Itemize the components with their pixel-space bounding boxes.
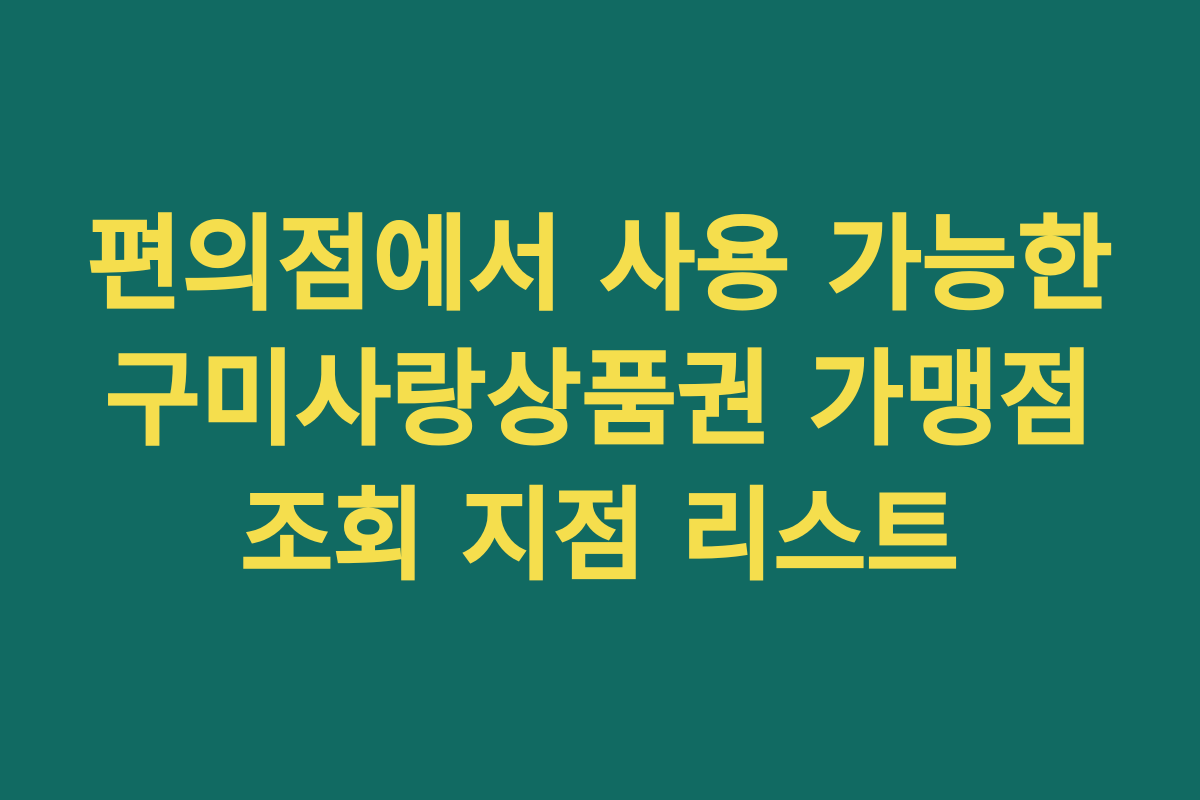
headline-line-2: 구미사랑상품권 가맹점: [30, 333, 1170, 468]
headline-line-3: 조회 지점 리스트: [30, 468, 1170, 603]
headline-line-1: 편의점에서 사용 가능한: [30, 198, 1170, 333]
headline-block: 편의점에서 사용 가능한 구미사랑상품권 가맹점 조회 지점 리스트: [30, 198, 1170, 603]
banner-card: 편의점에서 사용 가능한 구미사랑상품권 가맹점 조회 지점 리스트: [0, 0, 1200, 800]
